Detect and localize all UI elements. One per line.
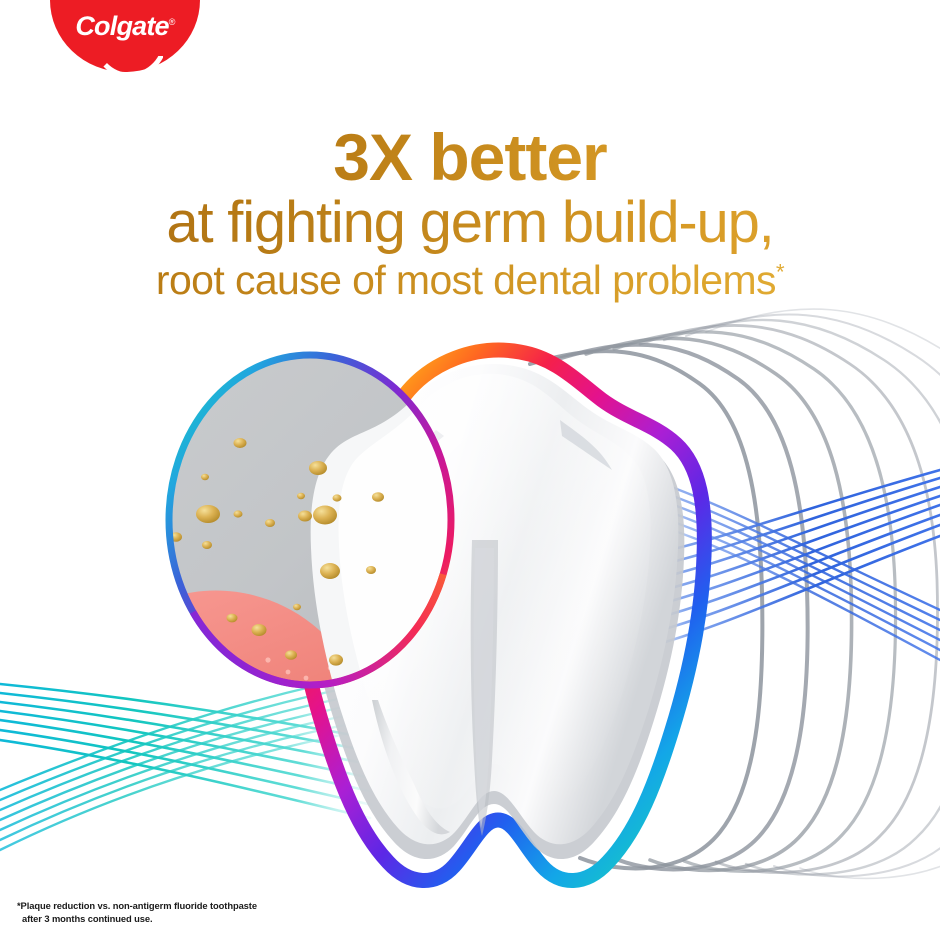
cyan-wave-band: [0, 672, 380, 850]
footnote-line-1: *Plaque reduction vs. non-antigerm fluor…: [17, 900, 257, 911]
colgate-logo[interactable]: Colgate®: [50, 0, 200, 72]
headline-line-1: 3X better: [0, 124, 940, 191]
registered-mark-icon: ®: [169, 17, 175, 27]
footnote-marker: *: [776, 260, 784, 285]
headline-line-3-text: root cause of most dental problems: [156, 257, 776, 303]
headline-block: 3X better at fighting germ build-up, roo…: [0, 124, 940, 305]
headline-line-2: at fighting germ build-up,: [0, 191, 940, 256]
logo-text: Colgate: [75, 11, 168, 41]
footnote-block: *Plaque reduction vs. non-antigerm fluor…: [17, 899, 257, 926]
logo-wordmark: Colgate®: [50, 13, 200, 40]
headline-line-3: root cause of most dental problems*: [0, 256, 940, 305]
footnote-line-2: after 3 months continued use.: [17, 912, 257, 926]
colgate-ad-canvas: Colgate® 3X better at fighting germ buil…: [0, 0, 940, 940]
